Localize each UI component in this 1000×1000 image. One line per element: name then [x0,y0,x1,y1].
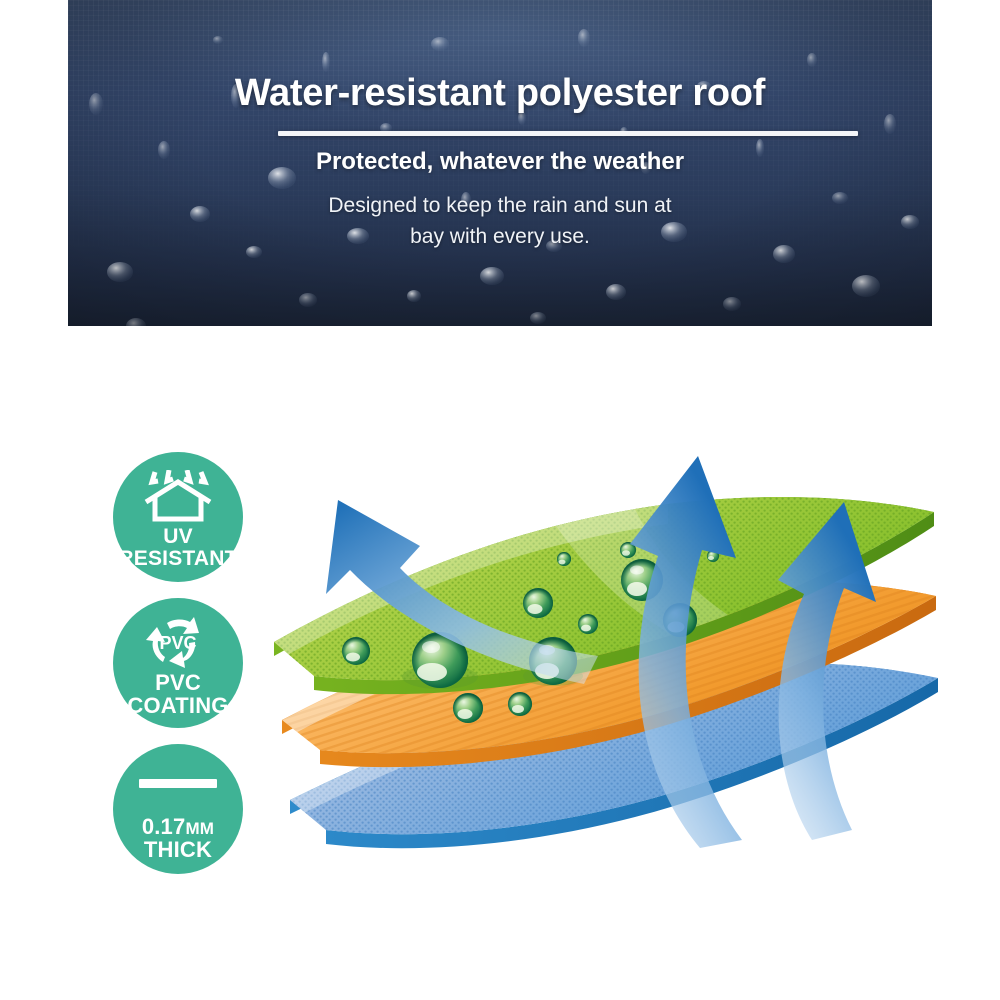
hero-banner: Water-resistant polyester roof Protected… [68,0,932,326]
house-with-sun-rays-icon [113,470,243,522]
hero-title: Water-resistant polyester roof [68,72,932,115]
feature-badge-list: UV RESISTANT PVC [113,452,255,890]
recycle-icon-text: PVC [159,633,196,653]
hero-description-line-1: Designed to keep the rain and sun at [68,190,932,221]
badge-thickness: 0.17MM THICK [113,744,243,874]
badge-label-line-1: PVC [101,672,255,695]
badge-label-line-1: 0.17MM [101,816,255,839]
hero-description: Designed to keep the rain and sun at bay… [68,190,932,252]
hero-divider [278,131,858,136]
badge-pvc-coating: PVC PVC COATING [113,598,243,728]
thickness-bar-icon [113,778,243,790]
thickness-unit: MM [185,819,214,838]
badge-label: PVC COATING [101,672,255,718]
hero-description-line-2: bay with every use. [68,221,932,252]
badge-uv-resistant: UV RESISTANT [113,452,243,582]
badge-label: UV RESISTANT [101,526,255,570]
thickness-value: 0.17 [142,814,186,839]
badge-label-line-2: THICK [101,839,255,862]
layered-waterproof-fabric-diagram [268,428,940,888]
badge-label-line-2: RESISTANT [101,548,255,570]
hero-subtitle: Protected, whatever the weather [68,148,932,176]
product-feature-page: Water-resistant polyester roof Protected… [0,0,1000,1000]
recycle-pvc-icon: PVC [113,614,243,672]
badge-label-line-2: COATING [101,695,255,718]
badge-label-line-1: UV [101,526,255,548]
badge-label: 0.17MM THICK [101,816,255,862]
